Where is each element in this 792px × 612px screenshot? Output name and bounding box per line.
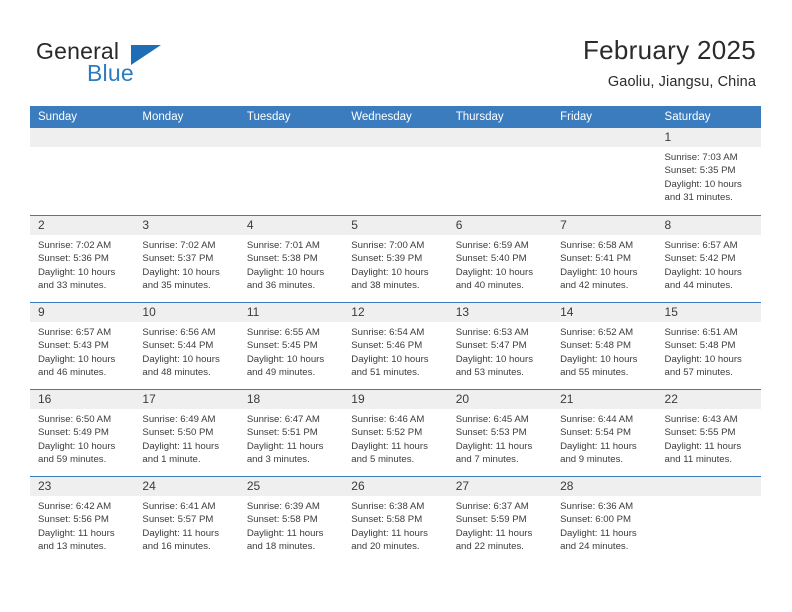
calendar-day-cell-empty xyxy=(343,128,447,215)
day-details: Sunrise: 6:45 AMSunset: 5:53 PMDaylight:… xyxy=(448,409,552,467)
sunset-time: Sunset: 5:57 PM xyxy=(142,513,230,526)
sunset-time: Sunset: 5:41 PM xyxy=(560,252,648,265)
day-number: 18 xyxy=(239,390,343,409)
calendar-week-row: 23Sunrise: 6:42 AMSunset: 5:56 PMDayligh… xyxy=(30,476,761,563)
day-number: 25 xyxy=(239,477,343,496)
daylight-duration-line1: Daylight: 10 hours xyxy=(142,353,230,366)
calendar-day-cell-empty xyxy=(657,477,761,563)
day-details: Sunrise: 6:57 AMSunset: 5:43 PMDaylight:… xyxy=(30,322,134,380)
calendar-week-row: 2Sunrise: 7:02 AMSunset: 5:36 PMDaylight… xyxy=(30,215,761,302)
page-header: General Blue February 2025 Gaoliu, Jiang… xyxy=(0,0,792,104)
calendar-day-cell[interactable]: 27Sunrise: 6:37 AMSunset: 5:59 PMDayligh… xyxy=(448,477,552,563)
day-details: Sunrise: 6:58 AMSunset: 5:41 PMDaylight:… xyxy=(552,235,656,293)
weekday-sunday: Sunday xyxy=(30,106,134,128)
sunrise-time: Sunrise: 6:36 AM xyxy=(560,500,648,513)
sunset-time: Sunset: 5:44 PM xyxy=(142,339,230,352)
day-number: 15 xyxy=(657,303,761,322)
day-details: Sunrise: 6:44 AMSunset: 5:54 PMDaylight:… xyxy=(552,409,656,467)
sunset-time: Sunset: 6:00 PM xyxy=(560,513,648,526)
sunrise-time: Sunrise: 7:00 AM xyxy=(351,239,439,252)
day-number: 24 xyxy=(134,477,238,496)
sunset-time: Sunset: 5:43 PM xyxy=(38,339,126,352)
daylight-duration-line2: and 51 minutes. xyxy=(351,366,439,379)
day-number: 26 xyxy=(343,477,447,496)
day-details: Sunrise: 6:50 AMSunset: 5:49 PMDaylight:… xyxy=(30,409,134,467)
day-number: 19 xyxy=(343,390,447,409)
sunrise-time: Sunrise: 6:45 AM xyxy=(456,413,544,426)
day-details: Sunrise: 6:49 AMSunset: 5:50 PMDaylight:… xyxy=(134,409,238,467)
day-number xyxy=(134,128,238,147)
day-details: Sunrise: 6:42 AMSunset: 5:56 PMDaylight:… xyxy=(30,496,134,554)
sunset-time: Sunset: 5:47 PM xyxy=(456,339,544,352)
day-details: Sunrise: 6:41 AMSunset: 5:57 PMDaylight:… xyxy=(134,496,238,554)
day-details: Sunrise: 6:47 AMSunset: 5:51 PMDaylight:… xyxy=(239,409,343,467)
day-number xyxy=(30,128,134,147)
weekday-friday: Friday xyxy=(552,106,656,128)
day-details: Sunrise: 6:39 AMSunset: 5:58 PMDaylight:… xyxy=(239,496,343,554)
day-number xyxy=(343,128,447,147)
day-number: 13 xyxy=(448,303,552,322)
calendar-day-cell[interactable]: 8Sunrise: 6:57 AMSunset: 5:42 PMDaylight… xyxy=(657,216,761,302)
daylight-duration-line2: and 20 minutes. xyxy=(351,540,439,553)
daylight-duration-line2: and 40 minutes. xyxy=(456,279,544,292)
calendar-day-cell[interactable]: 11Sunrise: 6:55 AMSunset: 5:45 PMDayligh… xyxy=(239,303,343,389)
sunset-time: Sunset: 5:46 PM xyxy=(351,339,439,352)
daylight-duration-line2: and 7 minutes. xyxy=(456,453,544,466)
daylight-duration-line2: and 49 minutes. xyxy=(247,366,335,379)
sunrise-time: Sunrise: 7:02 AM xyxy=(38,239,126,252)
daylight-duration-line2: and 53 minutes. xyxy=(456,366,544,379)
sunset-time: Sunset: 5:54 PM xyxy=(560,426,648,439)
sunset-time: Sunset: 5:52 PM xyxy=(351,426,439,439)
weekday-header-row: Sunday Monday Tuesday Wednesday Thursday… xyxy=(30,106,761,128)
calendar-day-cell[interactable]: 17Sunrise: 6:49 AMSunset: 5:50 PMDayligh… xyxy=(134,390,238,476)
sunset-time: Sunset: 5:42 PM xyxy=(665,252,753,265)
weekday-wednesday: Wednesday xyxy=(343,106,447,128)
weekday-saturday: Saturday xyxy=(657,106,761,128)
daylight-duration-line2: and 1 minute. xyxy=(142,453,230,466)
day-details: Sunrise: 7:02 AMSunset: 5:37 PMDaylight:… xyxy=(134,235,238,293)
sunrise-time: Sunrise: 6:47 AM xyxy=(247,413,335,426)
day-details: Sunrise: 6:52 AMSunset: 5:48 PMDaylight:… xyxy=(552,322,656,380)
day-number: 17 xyxy=(134,390,238,409)
day-number: 14 xyxy=(552,303,656,322)
calendar-grid: Sunday Monday Tuesday Wednesday Thursday… xyxy=(30,106,761,563)
daylight-duration-line1: Daylight: 11 hours xyxy=(456,527,544,540)
sunset-time: Sunset: 5:36 PM xyxy=(38,252,126,265)
daylight-duration-line2: and 3 minutes. xyxy=(247,453,335,466)
day-number xyxy=(657,477,761,496)
day-details: Sunrise: 6:43 AMSunset: 5:55 PMDaylight:… xyxy=(657,409,761,467)
daylight-duration-line1: Daylight: 10 hours xyxy=(456,353,544,366)
day-details: Sunrise: 6:59 AMSunset: 5:40 PMDaylight:… xyxy=(448,235,552,293)
daylight-duration-line1: Daylight: 11 hours xyxy=(351,440,439,453)
day-number: 2 xyxy=(30,216,134,235)
daylight-duration-line2: and 11 minutes. xyxy=(665,453,753,466)
daylight-duration-line1: Daylight: 10 hours xyxy=(456,266,544,279)
daylight-duration-line2: and 13 minutes. xyxy=(38,540,126,553)
calendar-day-cell-empty xyxy=(239,128,343,215)
daylight-duration-line2: and 22 minutes. xyxy=(456,540,544,553)
calendar-day-cell-empty xyxy=(552,128,656,215)
daylight-duration-line1: Daylight: 10 hours xyxy=(247,353,335,366)
daylight-duration-line2: and 18 minutes. xyxy=(247,540,335,553)
sunrise-time: Sunrise: 6:41 AM xyxy=(142,500,230,513)
sunrise-time: Sunrise: 7:03 AM xyxy=(665,151,753,164)
sunrise-time: Sunrise: 6:53 AM xyxy=(456,326,544,339)
calendar-day-cell[interactable]: 3Sunrise: 7:02 AMSunset: 5:37 PMDaylight… xyxy=(134,216,238,302)
triangle-flag-icon xyxy=(131,45,161,65)
calendar-day-cell-empty xyxy=(30,128,134,215)
sunrise-time: Sunrise: 6:55 AM xyxy=(247,326,335,339)
day-number: 22 xyxy=(657,390,761,409)
sunset-time: Sunset: 5:58 PM xyxy=(247,513,335,526)
daylight-duration-line1: Daylight: 10 hours xyxy=(665,353,753,366)
page-subtitle: Gaoliu, Jiangsu, China xyxy=(583,72,756,92)
sunset-time: Sunset: 5:45 PM xyxy=(247,339,335,352)
sunset-time: Sunset: 5:56 PM xyxy=(38,513,126,526)
sunset-time: Sunset: 5:58 PM xyxy=(351,513,439,526)
calendar-day-cell[interactable]: 26Sunrise: 6:38 AMSunset: 5:58 PMDayligh… xyxy=(343,477,447,563)
sunrise-time: Sunrise: 6:59 AM xyxy=(456,239,544,252)
day-details: Sunrise: 6:54 AMSunset: 5:46 PMDaylight:… xyxy=(343,322,447,380)
weekday-tuesday: Tuesday xyxy=(239,106,343,128)
calendar-day-cell[interactable]: 20Sunrise: 6:45 AMSunset: 5:53 PMDayligh… xyxy=(448,390,552,476)
calendar-day-cell-empty xyxy=(448,128,552,215)
day-number: 20 xyxy=(448,390,552,409)
daylight-duration-line1: Daylight: 11 hours xyxy=(560,440,648,453)
sunrise-time: Sunrise: 6:51 AM xyxy=(665,326,753,339)
day-number: 4 xyxy=(239,216,343,235)
sunrise-time: Sunrise: 6:57 AM xyxy=(665,239,753,252)
brand-logo[interactable]: General Blue xyxy=(36,38,236,90)
sunrise-time: Sunrise: 6:52 AM xyxy=(560,326,648,339)
daylight-duration-line1: Daylight: 11 hours xyxy=(142,527,230,540)
sunrise-time: Sunrise: 7:01 AM xyxy=(247,239,335,252)
sunset-time: Sunset: 5:48 PM xyxy=(560,339,648,352)
day-details: Sunrise: 6:37 AMSunset: 5:59 PMDaylight:… xyxy=(448,496,552,554)
day-number: 21 xyxy=(552,390,656,409)
brand-name-blue: Blue xyxy=(87,60,134,87)
daylight-duration-line2: and 59 minutes. xyxy=(38,453,126,466)
sunrise-time: Sunrise: 6:39 AM xyxy=(247,500,335,513)
sunrise-time: Sunrise: 6:37 AM xyxy=(456,500,544,513)
calendar-day-cell[interactable]: 1Sunrise: 7:03 AMSunset: 5:35 PMDaylight… xyxy=(657,128,761,215)
sunrise-time: Sunrise: 6:58 AM xyxy=(560,239,648,252)
daylight-duration-line1: Daylight: 10 hours xyxy=(351,353,439,366)
day-number: 12 xyxy=(343,303,447,322)
sunrise-time: Sunrise: 6:57 AM xyxy=(38,326,126,339)
calendar-day-cell[interactable]: 15Sunrise: 6:51 AMSunset: 5:48 PMDayligh… xyxy=(657,303,761,389)
daylight-duration-line1: Daylight: 10 hours xyxy=(560,266,648,279)
sunset-time: Sunset: 5:40 PM xyxy=(456,252,544,265)
day-number: 23 xyxy=(30,477,134,496)
calendar-day-cell[interactable]: 13Sunrise: 6:53 AMSunset: 5:47 PMDayligh… xyxy=(448,303,552,389)
daylight-duration-line2: and 5 minutes. xyxy=(351,453,439,466)
day-number: 16 xyxy=(30,390,134,409)
sunset-time: Sunset: 5:53 PM xyxy=(456,426,544,439)
day-number: 6 xyxy=(448,216,552,235)
day-number: 1 xyxy=(657,128,761,147)
day-details: Sunrise: 7:02 AMSunset: 5:36 PMDaylight:… xyxy=(30,235,134,293)
daylight-duration-line2: and 42 minutes. xyxy=(560,279,648,292)
daylight-duration-line1: Daylight: 10 hours xyxy=(142,266,230,279)
calendar-weeks: 1Sunrise: 7:03 AMSunset: 5:35 PMDaylight… xyxy=(30,128,761,563)
daylight-duration-line1: Daylight: 10 hours xyxy=(665,178,753,191)
day-number xyxy=(552,128,656,147)
daylight-duration-line2: and 57 minutes. xyxy=(665,366,753,379)
sunset-time: Sunset: 5:59 PM xyxy=(456,513,544,526)
day-details: Sunrise: 6:51 AMSunset: 5:48 PMDaylight:… xyxy=(657,322,761,380)
calendar-day-cell[interactable]: 23Sunrise: 6:42 AMSunset: 5:56 PMDayligh… xyxy=(30,477,134,563)
daylight-duration-line1: Daylight: 10 hours xyxy=(560,353,648,366)
daylight-duration-line2: and 16 minutes. xyxy=(142,540,230,553)
calendar-day-cell[interactable]: 5Sunrise: 7:00 AMSunset: 5:39 PMDaylight… xyxy=(343,216,447,302)
calendar-day-cell[interactable]: 4Sunrise: 7:01 AMSunset: 5:38 PMDaylight… xyxy=(239,216,343,302)
sunset-time: Sunset: 5:50 PM xyxy=(142,426,230,439)
daylight-duration-line1: Daylight: 11 hours xyxy=(38,527,126,540)
daylight-duration-line1: Daylight: 11 hours xyxy=(142,440,230,453)
calendar-day-cell[interactable]: 18Sunrise: 6:47 AMSunset: 5:51 PMDayligh… xyxy=(239,390,343,476)
calendar-day-cell[interactable]: 21Sunrise: 6:44 AMSunset: 5:54 PMDayligh… xyxy=(552,390,656,476)
day-details: Sunrise: 6:55 AMSunset: 5:45 PMDaylight:… xyxy=(239,322,343,380)
title-block: February 2025 Gaoliu, Jiangsu, China xyxy=(583,34,756,92)
calendar-week-row: 16Sunrise: 6:50 AMSunset: 5:49 PMDayligh… xyxy=(30,389,761,476)
day-details: Sunrise: 7:03 AMSunset: 5:35 PMDaylight:… xyxy=(657,147,761,205)
daylight-duration-line1: Daylight: 11 hours xyxy=(247,527,335,540)
calendar-day-cell[interactable]: 7Sunrise: 6:58 AMSunset: 5:41 PMDaylight… xyxy=(552,216,656,302)
calendar-day-cell[interactable]: 6Sunrise: 6:59 AMSunset: 5:40 PMDaylight… xyxy=(448,216,552,302)
day-details: Sunrise: 6:38 AMSunset: 5:58 PMDaylight:… xyxy=(343,496,447,554)
weekday-monday: Monday xyxy=(134,106,238,128)
sunset-time: Sunset: 5:38 PM xyxy=(247,252,335,265)
day-details: Sunrise: 7:00 AMSunset: 5:39 PMDaylight:… xyxy=(343,235,447,293)
day-details: Sunrise: 6:56 AMSunset: 5:44 PMDaylight:… xyxy=(134,322,238,380)
daylight-duration-line1: Daylight: 10 hours xyxy=(351,266,439,279)
daylight-duration-line1: Daylight: 11 hours xyxy=(351,527,439,540)
daylight-duration-line2: and 36 minutes. xyxy=(247,279,335,292)
daylight-duration-line1: Daylight: 10 hours xyxy=(38,440,126,453)
daylight-duration-line2: and 48 minutes. xyxy=(142,366,230,379)
calendar-day-cell[interactable]: 16Sunrise: 6:50 AMSunset: 5:49 PMDayligh… xyxy=(30,390,134,476)
day-details: Sunrise: 6:57 AMSunset: 5:42 PMDaylight:… xyxy=(657,235,761,293)
sunrise-time: Sunrise: 7:02 AM xyxy=(142,239,230,252)
day-details: Sunrise: 6:36 AMSunset: 6:00 PMDaylight:… xyxy=(552,496,656,554)
daylight-duration-line1: Daylight: 10 hours xyxy=(38,266,126,279)
day-number: 9 xyxy=(30,303,134,322)
daylight-duration-line2: and 24 minutes. xyxy=(560,540,648,553)
calendar-day-cell[interactable]: 28Sunrise: 6:36 AMSunset: 6:00 PMDayligh… xyxy=(552,477,656,563)
day-number: 27 xyxy=(448,477,552,496)
calendar-day-cell[interactable]: 10Sunrise: 6:56 AMSunset: 5:44 PMDayligh… xyxy=(134,303,238,389)
daylight-duration-line1: Daylight: 10 hours xyxy=(38,353,126,366)
day-details: Sunrise: 7:01 AMSunset: 5:38 PMDaylight:… xyxy=(239,235,343,293)
day-number: 11 xyxy=(239,303,343,322)
sunset-time: Sunset: 5:48 PM xyxy=(665,339,753,352)
calendar-day-cell[interactable]: 19Sunrise: 6:46 AMSunset: 5:52 PMDayligh… xyxy=(343,390,447,476)
sunset-time: Sunset: 5:39 PM xyxy=(351,252,439,265)
day-number: 3 xyxy=(134,216,238,235)
daylight-duration-line1: Daylight: 10 hours xyxy=(247,266,335,279)
calendar-day-cell[interactable]: 9Sunrise: 6:57 AMSunset: 5:43 PMDaylight… xyxy=(30,303,134,389)
calendar-day-cell[interactable]: 2Sunrise: 7:02 AMSunset: 5:36 PMDaylight… xyxy=(30,216,134,302)
calendar-day-cell[interactable]: 22Sunrise: 6:43 AMSunset: 5:55 PMDayligh… xyxy=(657,390,761,476)
day-details: Sunrise: 6:53 AMSunset: 5:47 PMDaylight:… xyxy=(448,322,552,380)
daylight-duration-line2: and 9 minutes. xyxy=(560,453,648,466)
weekday-thursday: Thursday xyxy=(448,106,552,128)
sunrise-time: Sunrise: 6:38 AM xyxy=(351,500,439,513)
day-number: 8 xyxy=(657,216,761,235)
calendar-day-cell-empty xyxy=(134,128,238,215)
calendar-day-cell[interactable]: 24Sunrise: 6:41 AMSunset: 5:57 PMDayligh… xyxy=(134,477,238,563)
calendar-day-cell[interactable]: 14Sunrise: 6:52 AMSunset: 5:48 PMDayligh… xyxy=(552,303,656,389)
daylight-duration-line1: Daylight: 10 hours xyxy=(665,266,753,279)
sunset-time: Sunset: 5:51 PM xyxy=(247,426,335,439)
page-title: February 2025 xyxy=(583,34,756,66)
sunset-time: Sunset: 5:55 PM xyxy=(665,426,753,439)
calendar-day-cell[interactable]: 25Sunrise: 6:39 AMSunset: 5:58 PMDayligh… xyxy=(239,477,343,563)
calendar-day-cell[interactable]: 12Sunrise: 6:54 AMSunset: 5:46 PMDayligh… xyxy=(343,303,447,389)
daylight-duration-line1: Daylight: 11 hours xyxy=(560,527,648,540)
daylight-duration-line2: and 55 minutes. xyxy=(560,366,648,379)
daylight-duration-line1: Daylight: 11 hours xyxy=(247,440,335,453)
sunrise-time: Sunrise: 6:56 AM xyxy=(142,326,230,339)
day-number: 10 xyxy=(134,303,238,322)
day-number xyxy=(239,128,343,147)
calendar-week-row: 9Sunrise: 6:57 AMSunset: 5:43 PMDaylight… xyxy=(30,302,761,389)
sunset-time: Sunset: 5:37 PM xyxy=(142,252,230,265)
sunrise-time: Sunrise: 6:49 AM xyxy=(142,413,230,426)
sunrise-time: Sunrise: 6:43 AM xyxy=(665,413,753,426)
daylight-duration-line2: and 38 minutes. xyxy=(351,279,439,292)
day-number: 5 xyxy=(343,216,447,235)
daylight-duration-line2: and 35 minutes. xyxy=(142,279,230,292)
calendar-page: General Blue February 2025 Gaoliu, Jiang… xyxy=(0,0,792,612)
sunrise-time: Sunrise: 6:46 AM xyxy=(351,413,439,426)
daylight-duration-line2: and 46 minutes. xyxy=(38,366,126,379)
calendar-week-row: 1Sunrise: 7:03 AMSunset: 5:35 PMDaylight… xyxy=(30,128,761,215)
day-number xyxy=(448,128,552,147)
day-number: 28 xyxy=(552,477,656,496)
sunset-time: Sunset: 5:49 PM xyxy=(38,426,126,439)
daylight-duration-line2: and 31 minutes. xyxy=(665,191,753,204)
day-details: Sunrise: 6:46 AMSunset: 5:52 PMDaylight:… xyxy=(343,409,447,467)
daylight-duration-line2: and 33 minutes. xyxy=(38,279,126,292)
sunset-time: Sunset: 5:35 PM xyxy=(665,164,753,177)
daylight-duration-line2: and 44 minutes. xyxy=(665,279,753,292)
daylight-duration-line1: Daylight: 11 hours xyxy=(665,440,753,453)
sunrise-time: Sunrise: 6:54 AM xyxy=(351,326,439,339)
sunrise-time: Sunrise: 6:50 AM xyxy=(38,413,126,426)
sunrise-time: Sunrise: 6:42 AM xyxy=(38,500,126,513)
day-number: 7 xyxy=(552,216,656,235)
daylight-duration-line1: Daylight: 11 hours xyxy=(456,440,544,453)
sunrise-time: Sunrise: 6:44 AM xyxy=(560,413,648,426)
